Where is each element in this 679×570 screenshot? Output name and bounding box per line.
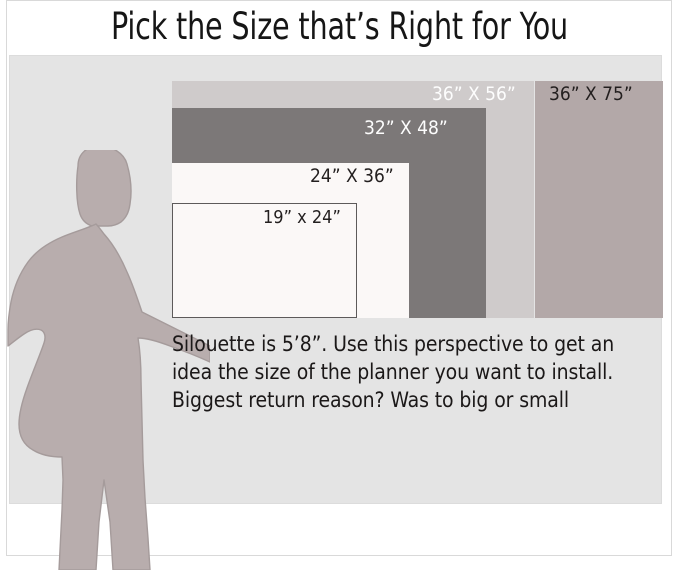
page-title: Pick the Size that’s Right for You [48,2,632,52]
size-label-32x48: 32” X 48” [364,117,448,139]
size-comparison-infographic: Pick the Size that’s Right for You 36” X… [0,0,679,570]
size-rect-36x75 [535,81,663,318]
caption-text-block: Silouette is 5’8”. Use this perspective … [172,330,658,414]
size-label-36x75: 36” X 75” [549,83,633,105]
size-label-19x24: 19” x 24” [263,207,341,228]
caption-line-2: idea the size of the planner you want to… [172,358,658,386]
size-label-24x36: 24” X 36” [310,165,394,187]
caption-line-3: Biggest return reason? Was to big or sma… [172,386,658,414]
caption-line-1: Silouette is 5’8”. Use this perspective … [172,330,658,358]
size-label-36x56: 36” X 56” [432,83,516,105]
